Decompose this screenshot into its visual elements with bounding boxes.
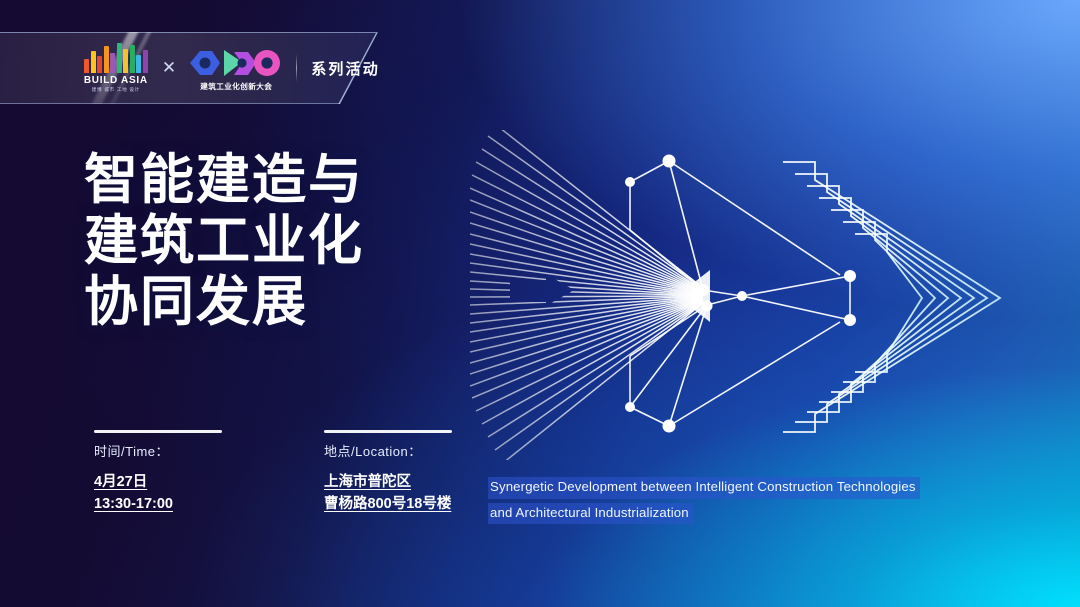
time-value: 4月27日 13:30-17:00 (94, 471, 244, 516)
conference-logo-subtext: 建筑工业化创新大会 (200, 83, 272, 91)
headline-line-1: 智能建造与 (84, 150, 454, 211)
location-address: 曹杨路800号18号楼 (324, 493, 474, 515)
event-details: 时间/Time： 4月27日 13:30-17:00 地点/Location： … (94, 430, 474, 516)
headline-line-2: 建筑工业化 (84, 211, 454, 272)
location-value: 上海市普陀区 曹杨路800号18号楼 (324, 471, 474, 516)
time-date: 4月27日 (94, 471, 244, 493)
build-asia-logo[interactable]: BUILD ASIA 建博 城市 工地 设计 (78, 43, 154, 93)
banner-divider (296, 54, 297, 82)
event-time-block: 时间/Time： 4月27日 13:30-17:00 (94, 430, 244, 516)
location-label: 地点/Location： (324, 445, 474, 458)
english-subtitle: Synergetic Development between Intellige… (488, 477, 1008, 528)
build-asia-name: BUILD ASIA (84, 76, 148, 86)
promotional-poster: BUILD ASIA 建博 城市 工地 设计 ✕ 建筑工业化创新大会 系列活动 (0, 0, 1080, 607)
build-asia-subtext: 建博 城市 工地 设计 (92, 88, 140, 93)
time-label: 时间/Time： (94, 445, 244, 458)
page-title: 智能建造与 建筑工业化 协同发展 (84, 150, 454, 333)
conference-logo[interactable]: 建筑工业化创新大会 (184, 46, 288, 91)
series-label: 系列活动 (311, 58, 380, 79)
location-district: 上海市普陀区 (324, 471, 474, 493)
subtitle-line-2: and Architectural Industrialization (488, 503, 693, 525)
headline-line-3: 协同发展 (84, 272, 454, 333)
header-banner: BUILD ASIA 建博 城市 工地 设计 ✕ 建筑工业化创新大会 系列活动 (0, 32, 380, 104)
event-location-block: 地点/Location： 上海市普陀区 曹杨路800号18号楼 (324, 430, 474, 516)
network-arrow-graphic (470, 130, 1030, 460)
subtitle-line-1: Synergetic Development between Intellige… (488, 477, 920, 499)
building-skyline-icon (84, 43, 148, 73)
divider-rule (324, 430, 452, 433)
x-cross-icon: ✕ (154, 58, 185, 78)
time-range: 13:30-17:00 (94, 493, 244, 515)
divider-rule (94, 430, 222, 433)
abstract-nodes-icon (184, 46, 288, 80)
